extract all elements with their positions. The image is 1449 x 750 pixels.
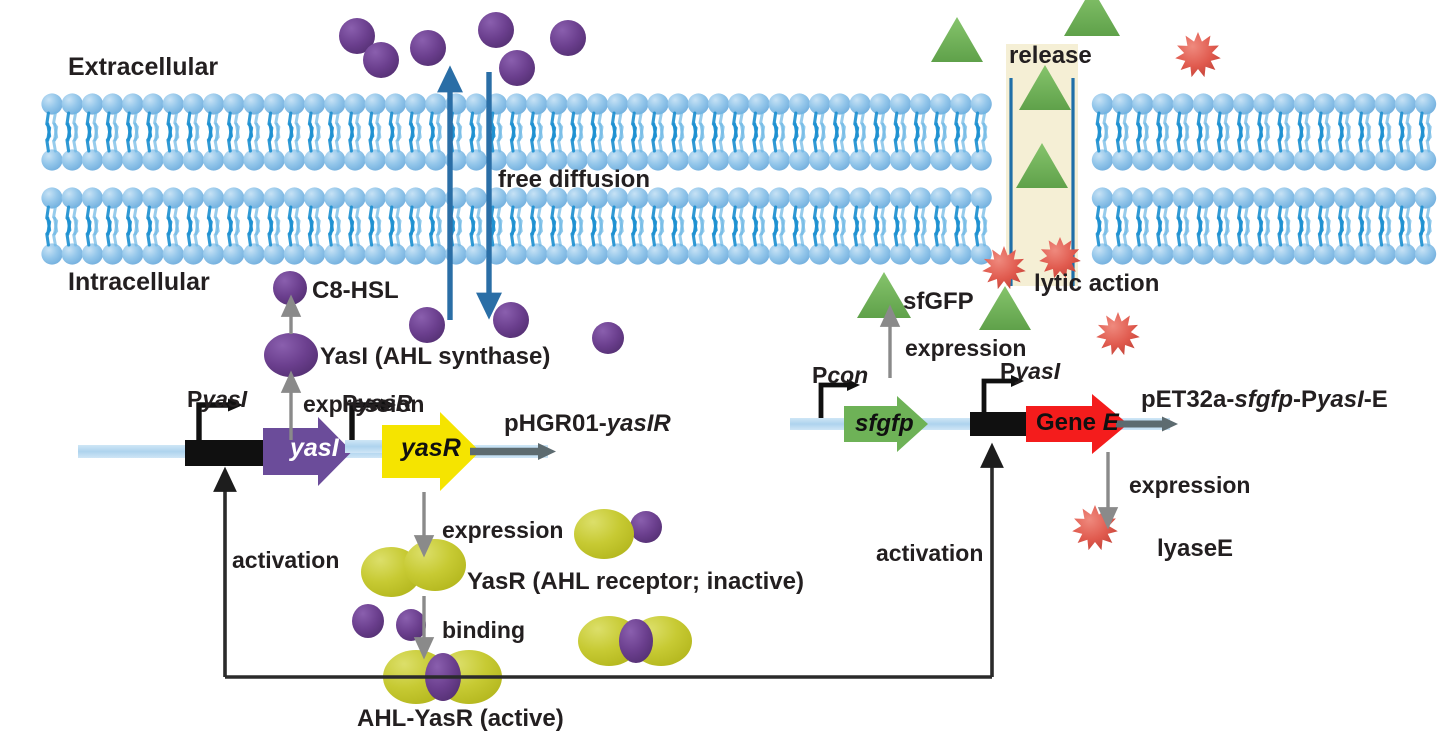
pathway-diagram-svg (0, 0, 1449, 750)
yasi-label: YasI (AHL synthase) (320, 345, 550, 369)
lipid-bilayer-outer (41, 93, 1436, 170)
binding-label: binding (442, 619, 525, 642)
yasr-inactive-label: YasR (AHL receptor; inactive) (467, 570, 804, 594)
sfgfp-triangle (979, 286, 1031, 330)
ahl-molecule (363, 42, 399, 78)
promoter-label-pyasI: PyasI (187, 388, 247, 411)
yasr-protein (404, 539, 466, 591)
free-diffusion-label: free diffusion (498, 168, 650, 192)
ahl-molecule (352, 604, 384, 638)
gene-label-yasR: yasR (401, 436, 461, 461)
yasr-protein (574, 509, 634, 559)
lipid-bilayer-inner (41, 187, 1436, 264)
ahl-molecule-bound (619, 619, 653, 663)
ahl-molecule (396, 609, 426, 641)
intracellular-label: Intracellular (68, 270, 210, 295)
lyase-star (1175, 32, 1221, 77)
activation-label-right: activation (876, 542, 983, 565)
ahl-molecule (592, 322, 624, 354)
c8hsl-label: C8-HSL (312, 279, 399, 303)
gene-label-geneE: Gene E (1036, 411, 1119, 435)
lyase-label: lyaseE (1157, 537, 1233, 561)
activation-label-left: activation (232, 549, 339, 572)
lytic-action-label: lytic action (1034, 272, 1159, 296)
gene-label-yasI: yasI (290, 436, 339, 461)
ahl-yasr-active-label: AHL-YasR (active) (357, 707, 564, 731)
ahl-molecule (499, 50, 535, 86)
release-label: release (1009, 44, 1092, 68)
lyase-star (1072, 505, 1118, 550)
promoter-label-pyasI-right: PyasI (1000, 360, 1060, 383)
promoter-box-pyasI-right (970, 412, 1032, 436)
ahl-molecule (410, 30, 446, 66)
lyase-star (1096, 312, 1140, 355)
promoter-label-pyasR: PyasR (342, 392, 412, 415)
sfgfp-label: sfGFP (903, 290, 974, 314)
expression-label-geneE: expression (1129, 474, 1250, 497)
ahl-molecule (409, 307, 445, 343)
plasmid-left-name: pHGR01-yasIR (504, 412, 671, 436)
ahl-molecule (273, 271, 307, 305)
ahl-molecule (550, 20, 586, 56)
ahl-molecule (493, 302, 529, 338)
sfgfp-triangle (931, 17, 983, 62)
extracellular-label: Extracellular (68, 55, 218, 80)
expression-label-yasR: expression (442, 519, 563, 542)
promoter-label-pcon: Pcon (812, 364, 868, 387)
gene-label-sfgfp: sfgfp (855, 412, 914, 436)
figure-canvas: Extracellular Intracellular free diffusi… (0, 0, 1449, 750)
ahl-molecule (478, 12, 514, 48)
expression-label-sfgfp: expression (905, 337, 1026, 360)
plasmid-right-name: pET32a-sfgfp-PyasI-E (1141, 388, 1388, 412)
promoter-box-pyasI (185, 440, 263, 466)
ahl-molecule (264, 333, 318, 377)
ahl-molecule (630, 511, 662, 543)
sfgfp-triangle (1064, 0, 1120, 36)
